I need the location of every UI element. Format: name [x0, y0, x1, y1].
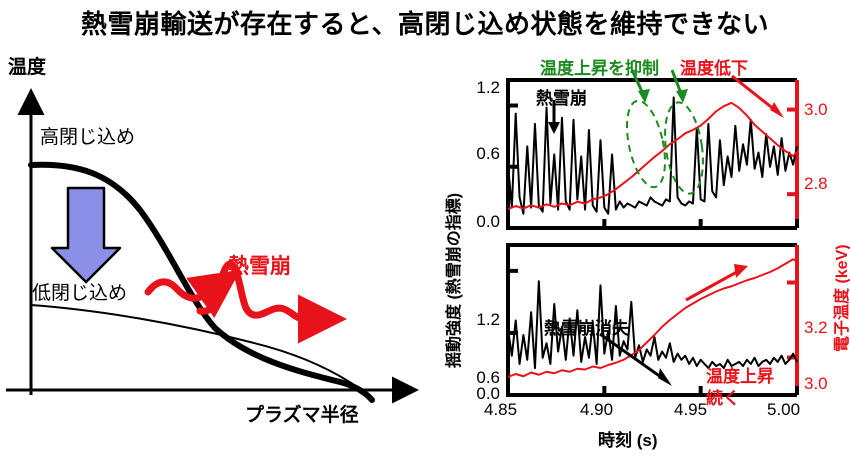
bottom-right-ytick-3.0: 3.0	[804, 374, 828, 394]
top-right-ytick-3.0: 3.0	[804, 100, 828, 120]
low-confinement-curve	[31, 305, 372, 398]
xtick-5.00: 5.00	[767, 400, 800, 420]
suppress-temp-rise-annotation: 温度上昇を抑制	[540, 54, 659, 79]
top-ytick-0.6: 0.6	[458, 144, 500, 164]
temperature-axis-label: 温度	[8, 52, 46, 79]
avalanche-annotation: 熱雪崩	[536, 84, 587, 109]
temp-rise-continues-annotation-line2: 続く	[706, 384, 740, 409]
top-ytick-1.2: 1.2	[458, 78, 500, 98]
timeseries-chart: 揺動強度 (熱雪崩の指標) 電子温度 (keV) 1.2 0.6 0.0 3.0…	[432, 52, 850, 461]
top-ytick-0.0: 0.0	[458, 212, 500, 232]
confinement-profile-diagram: 温度 プラズマ半径 高閉じ込め 低閉じ込め 熱雪崩	[0, 60, 430, 461]
temp-drop-annotation: 温度低下	[680, 54, 748, 79]
radius-axis-label: プラズマ半径	[245, 400, 359, 427]
page-title: 熱雪崩輸送が存在すると、高閉じ込め状態を維持できない	[0, 4, 850, 41]
profile-svg	[0, 60, 430, 461]
top-right-ytick-2.8: 2.8	[804, 174, 828, 194]
bottom-ytick-1.2: 1.2	[458, 310, 500, 330]
high-confinement-label: 高閉じ込め	[40, 122, 135, 149]
avalanche-label: 熱雪崩	[228, 250, 291, 280]
xtick-4.90: 4.90	[580, 400, 613, 420]
xtick-4.85: 4.85	[484, 400, 517, 420]
right-y-axis-label: 電子温度 (keV)	[828, 244, 850, 352]
x-axis-label: 時刻 (s)	[598, 426, 658, 451]
low-confinement-label: 低閉じ込め	[32, 278, 127, 305]
bottom-right-ytick-3.2: 3.2	[804, 318, 828, 338]
avalanche-squiggle-left	[148, 282, 206, 298]
xtick-4.95: 4.95	[674, 400, 707, 420]
avalanche-vanish-annotation: 熱雪崩消失	[544, 314, 629, 339]
confinement-degradation-arrow	[52, 188, 120, 282]
